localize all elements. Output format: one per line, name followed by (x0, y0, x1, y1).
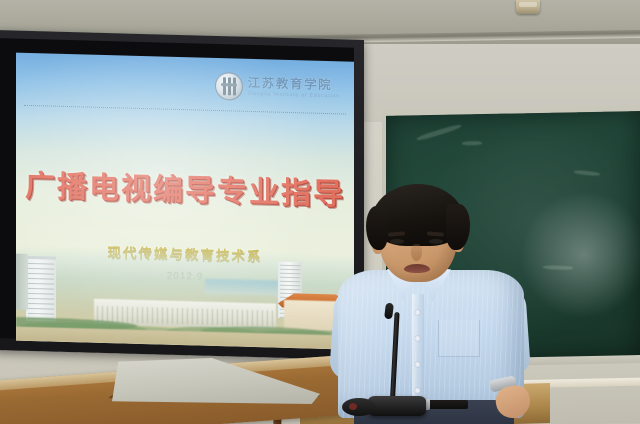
logo-chinese-name: 江苏教育学院 (248, 77, 340, 92)
presentation-slide: 江苏教育学院 Jiangsu Institute of Education 广播… (16, 53, 354, 350)
campus-photo (16, 245, 354, 350)
eye-left (390, 239, 404, 244)
shirt-button (415, 362, 420, 367)
presenter (330, 188, 530, 424)
desk-control-puck (342, 398, 376, 416)
shirt-button (415, 310, 420, 315)
eye-right (429, 239, 443, 244)
screen-bezel: 江苏教育学院 Jiangsu Institute of Education 广播… (0, 38, 354, 348)
institution-seal-icon (215, 72, 243, 101)
smoke-detector-icon (516, 0, 540, 14)
classroom-photo: 江苏教育学院 Jiangsu Institute of Education 广播… (0, 0, 640, 424)
mouth (404, 264, 430, 273)
shirt-button (415, 388, 420, 393)
microphone-base (368, 396, 426, 416)
slide-divider (24, 105, 346, 115)
hair (371, 184, 465, 246)
projection-screen: 江苏教育学院 Jiangsu Institute of Education 广播… (0, 30, 364, 360)
nose (411, 244, 422, 261)
shirt-pocket (438, 320, 480, 357)
institution-logo: 江苏教育学院 Jiangsu Institute of Education (215, 72, 340, 103)
shirt-button (415, 336, 420, 341)
logo-english-name: Jiangsu Institute of Education (248, 92, 340, 99)
slide-title: 广播电视编导专业指导 (16, 161, 354, 214)
